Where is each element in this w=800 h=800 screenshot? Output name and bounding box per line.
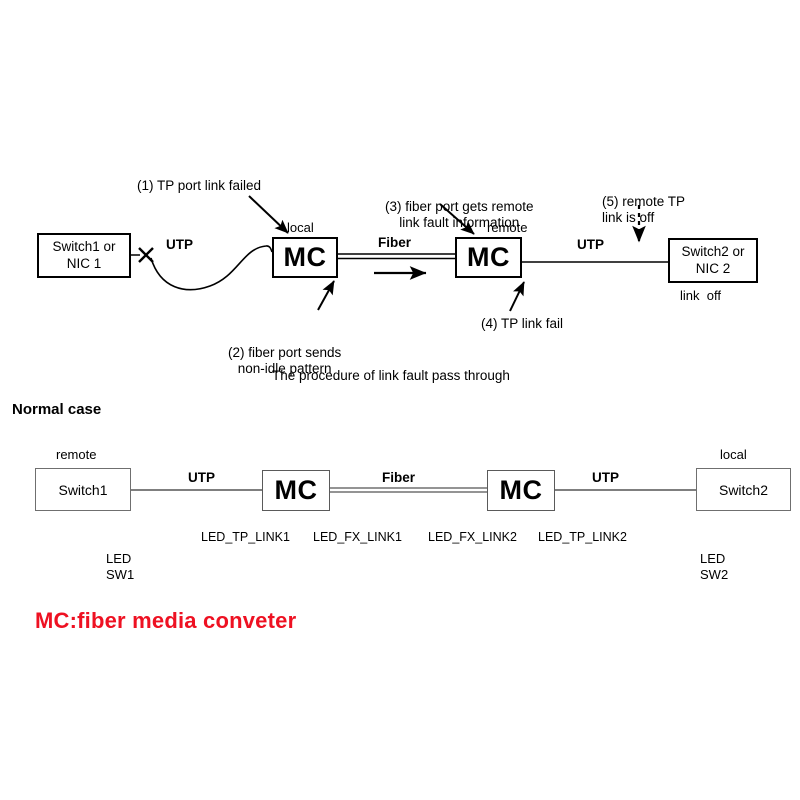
node-left-switch-led: LED SW1 xyxy=(106,518,134,599)
node-local-mc[interactable]: MC xyxy=(272,237,338,278)
link-label-fiber-fault: Fiber xyxy=(378,235,411,251)
node-local-mc-tag: local xyxy=(287,220,314,235)
annotation-2-arrow xyxy=(318,281,334,310)
node-left-switch-normal-tag: remote xyxy=(56,447,96,462)
link-label-utp-left-normal: UTP xyxy=(188,470,215,486)
node-left-switch-normal-label: Switch1 xyxy=(58,482,107,498)
node-right-switch-led-text: LED SW2 xyxy=(700,551,728,584)
annotation-5-text: (5) remote TP link is off xyxy=(602,162,685,242)
link-label-utp-right-fault: UTP xyxy=(577,237,604,253)
node-mc2-normal-label: MC xyxy=(500,475,543,506)
annotation-1-arrow xyxy=(249,196,288,233)
node-remote-mc-tag: remote xyxy=(487,220,527,235)
node-right-switch-fault-label: Switch2 or NIC 2 xyxy=(681,244,744,276)
diagram-canvas xyxy=(0,0,800,800)
node-remote-mc[interactable]: MC xyxy=(455,237,522,278)
annotation-4-arrow xyxy=(510,282,524,311)
node-mc1-normal-label: MC xyxy=(275,475,318,506)
node-remote-mc-label: MC xyxy=(467,242,510,273)
node-right-switch-fault[interactable]: Switch2 or NIC 2 xyxy=(668,238,758,283)
legend-mc-definition: MC:fiber media conveter xyxy=(35,608,296,634)
node-right-switch-led: LED SW2 xyxy=(700,518,728,599)
led-label-fx-link1: LED_FX_LINK1 xyxy=(313,530,402,545)
led-label-tp-link1: LED_TP_LINK1 xyxy=(201,530,290,545)
led-label-fx-link2: LED_FX_LINK2 xyxy=(428,530,517,545)
node-right-switch-normal-label: Switch2 xyxy=(719,482,768,498)
figure-caption: The procedure of link fault pass through xyxy=(272,368,510,384)
node-right-switch-normal-tag: local xyxy=(720,447,747,462)
node-mc1-normal[interactable]: MC xyxy=(262,470,330,511)
annotation-5-line: (5) remote TP link is off xyxy=(602,194,685,226)
node-right-switch-normal[interactable]: Switch2 xyxy=(696,468,791,511)
fiber-link-bottom xyxy=(330,488,487,492)
node-mc2-normal[interactable]: MC xyxy=(487,470,555,511)
link-label-fiber-normal: Fiber xyxy=(382,470,415,486)
node-left-switch-normal[interactable]: Switch1 xyxy=(35,468,131,511)
node-local-mc-label: MC xyxy=(284,242,327,273)
node-left-switch-fault-label: Switch1 or NIC 1 xyxy=(52,239,115,271)
node-left-switch-fault[interactable]: Switch1 or NIC 1 xyxy=(37,233,131,278)
node-right-switch-status: link off xyxy=(680,288,721,303)
annotation-4-text: (4) TP link fail xyxy=(481,316,563,332)
node-left-switch-led-text: LED SW1 xyxy=(106,551,134,584)
led-label-tp-link2: LED_TP_LINK2 xyxy=(538,530,627,545)
link-label-utp-right-normal: UTP xyxy=(592,470,619,486)
fiber-link-top xyxy=(338,254,455,259)
link-label-utp-left-fault: UTP xyxy=(166,237,193,253)
annotation-1-text: (1) TP port link failed xyxy=(137,178,261,194)
section-heading-normal-case: Normal case xyxy=(12,401,101,419)
